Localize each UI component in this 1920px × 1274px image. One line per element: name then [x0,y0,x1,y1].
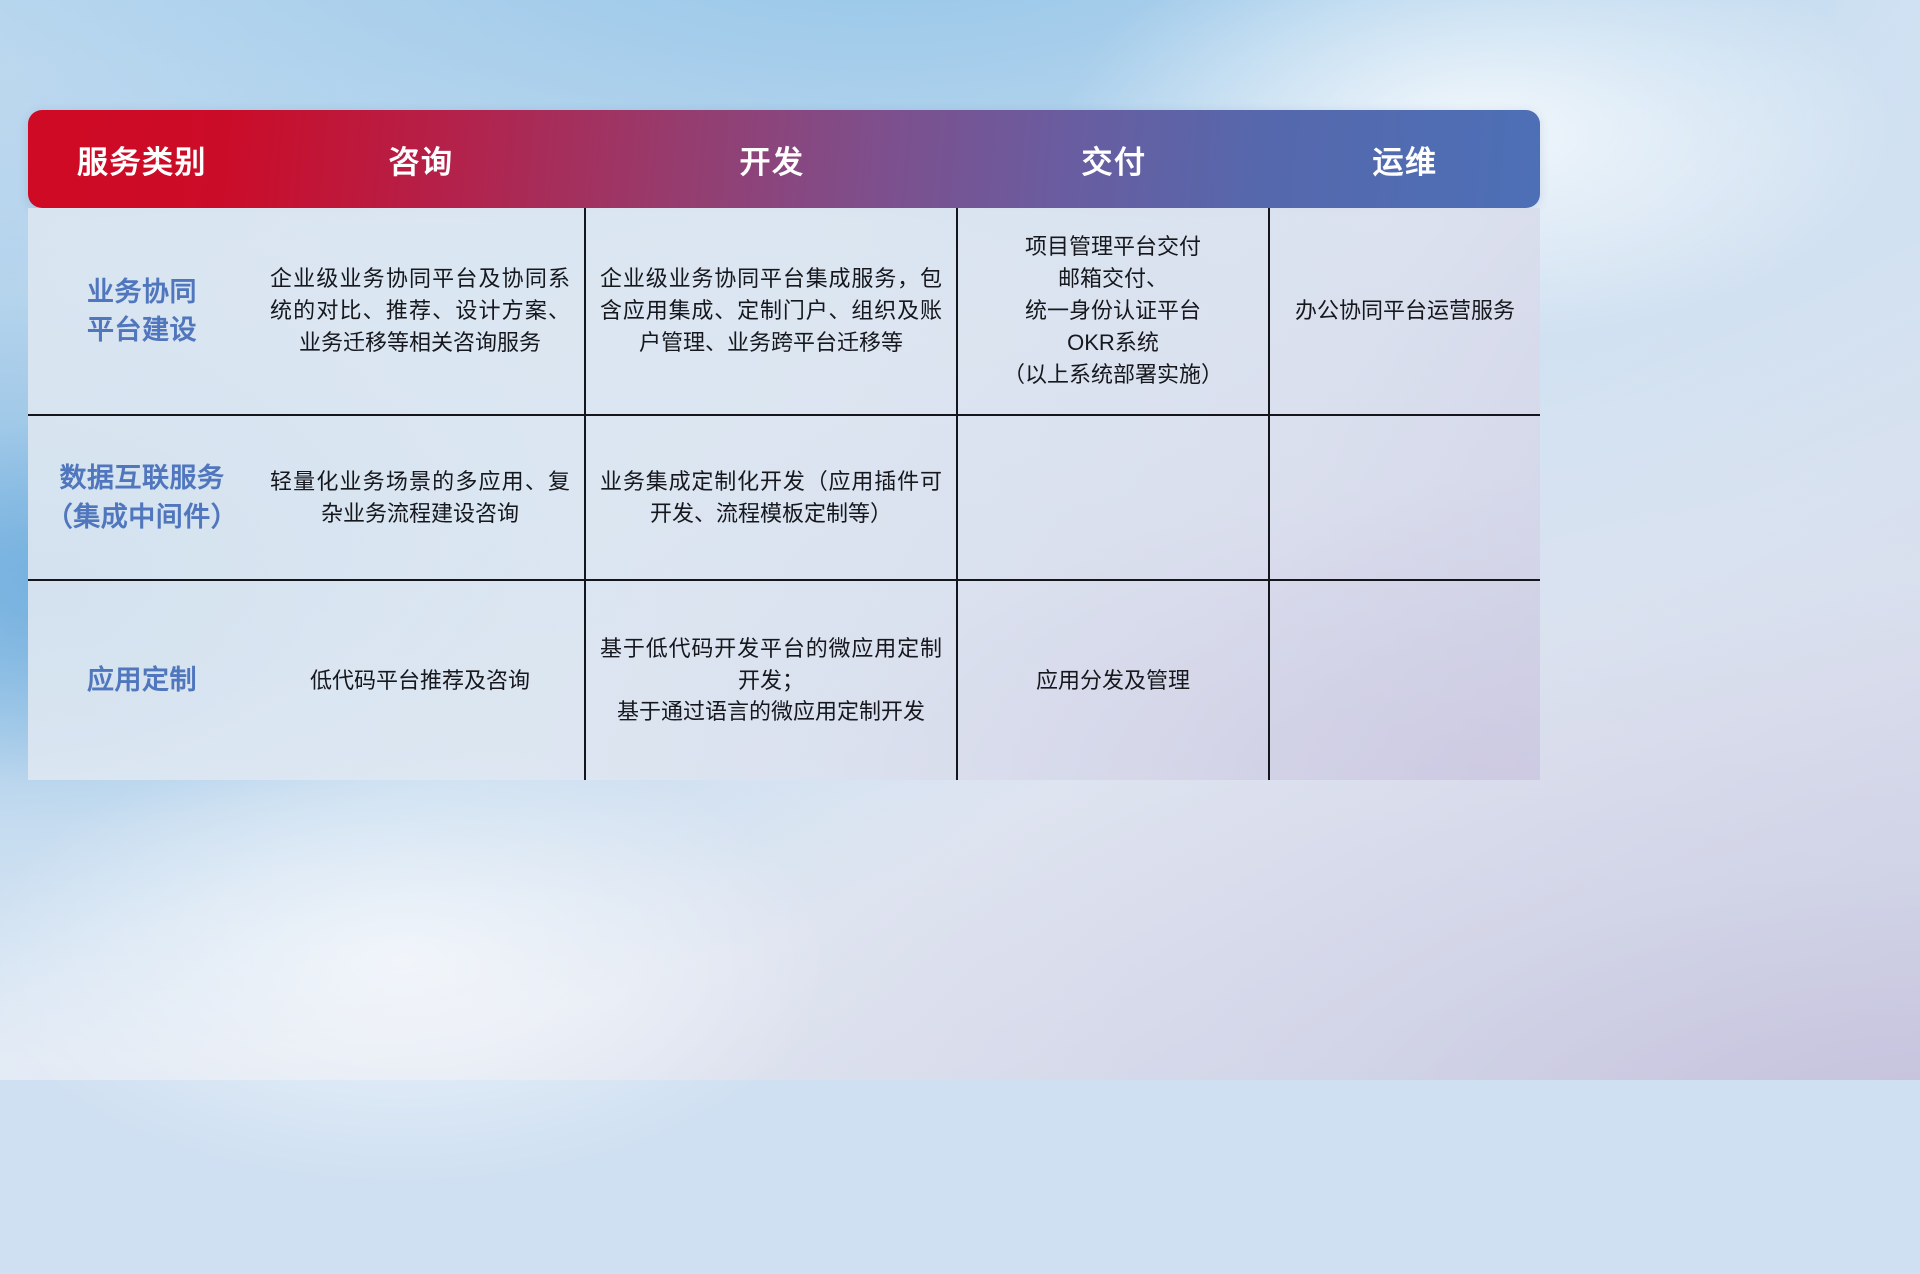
header-cell-consulting: 咨询 [256,110,586,208]
cell-consulting: 轻量化业务场景的多应用、复杂业务流程建设咨询 [256,416,586,579]
table-body: 业务协同平台建设 企业级业务协同平台及协同系统的对比、推荐、设计方案、业务迁移等… [28,208,1540,780]
service-matrix-figure: 服务类别 咨询 开发 交付 运维 业务协同平台建设 企业级业务协同平台及协同系统… [28,110,1540,780]
cell-consulting: 企业级业务协同平台及协同系统的对比、推荐、设计方案、业务迁移等相关咨询服务 [256,208,586,414]
table-row: 应用定制 低代码平台推荐及咨询 基于低代码开发平台的微应用定制开发；基于通过语言… [28,579,1540,780]
cell-operations [1270,416,1540,579]
row-label-cell: 业务协同平台建设 [28,208,256,414]
cell-text: 项目管理平台交付邮箱交付、统一身份认证平台OKR系统（以上系统部署实施） [1003,231,1223,390]
cell-delivery [958,416,1270,579]
row-label-text: 业务协同平台建设 [87,273,197,350]
cell-development: 企业级业务协同平台集成服务，包含应用集成、定制门户、组织及账户管理、业务跨平台迁… [586,208,958,414]
row-label-text: 数据互联服务（集成中间件） [46,459,239,536]
cell-development: 基于低代码开发平台的微应用定制开发；基于通过语言的微应用定制开发 [586,581,958,780]
cell-consulting: 低代码平台推荐及咨询 [256,581,586,780]
row-label-cell: 数据互联服务（集成中间件） [28,416,256,579]
table-row: 业务协同平台建设 企业级业务协同平台及协同系统的对比、推荐、设计方案、业务迁移等… [28,208,1540,414]
cell-text: 业务集成定制化开发（应用插件可开发、流程模板定制等） [600,466,942,530]
header-cell-category: 服务类别 [28,110,256,208]
table-row: 数据互联服务（集成中间件） 轻量化业务场景的多应用、复杂业务流程建设咨询 业务集… [28,414,1540,579]
cell-delivery: 应用分发及管理 [958,581,1270,780]
table-header-row: 服务类别 咨询 开发 交付 运维 [28,110,1540,208]
cell-text: 轻量化业务场景的多应用、复杂业务流程建设咨询 [270,466,570,530]
row-label-text: 应用定制 [87,661,197,699]
cell-text: 办公协同平台运营服务 [1295,295,1515,327]
cell-text: 基于低代码开发平台的微应用定制开发；基于通过语言的微应用定制开发 [600,633,942,729]
cell-text: 企业级业务协同平台及协同系统的对比、推荐、设计方案、业务迁移等相关咨询服务 [270,263,570,359]
header-cell-operations: 运维 [1270,110,1540,208]
cell-operations [1270,581,1540,780]
cell-text: 低代码平台推荐及咨询 [310,665,530,697]
cell-text: 应用分发及管理 [1036,665,1190,697]
cell-text: 企业级业务协同平台集成服务，包含应用集成、定制门户、组织及账户管理、业务跨平台迁… [600,263,942,359]
row-label-cell: 应用定制 [28,581,256,780]
cell-development: 业务集成定制化开发（应用插件可开发、流程模板定制等） [586,416,958,579]
header-cell-delivery: 交付 [958,110,1270,208]
header-cell-development: 开发 [586,110,958,208]
cell-delivery: 项目管理平台交付邮箱交付、统一身份认证平台OKR系统（以上系统部署实施） [958,208,1270,414]
cell-operations: 办公协同平台运营服务 [1270,208,1540,414]
